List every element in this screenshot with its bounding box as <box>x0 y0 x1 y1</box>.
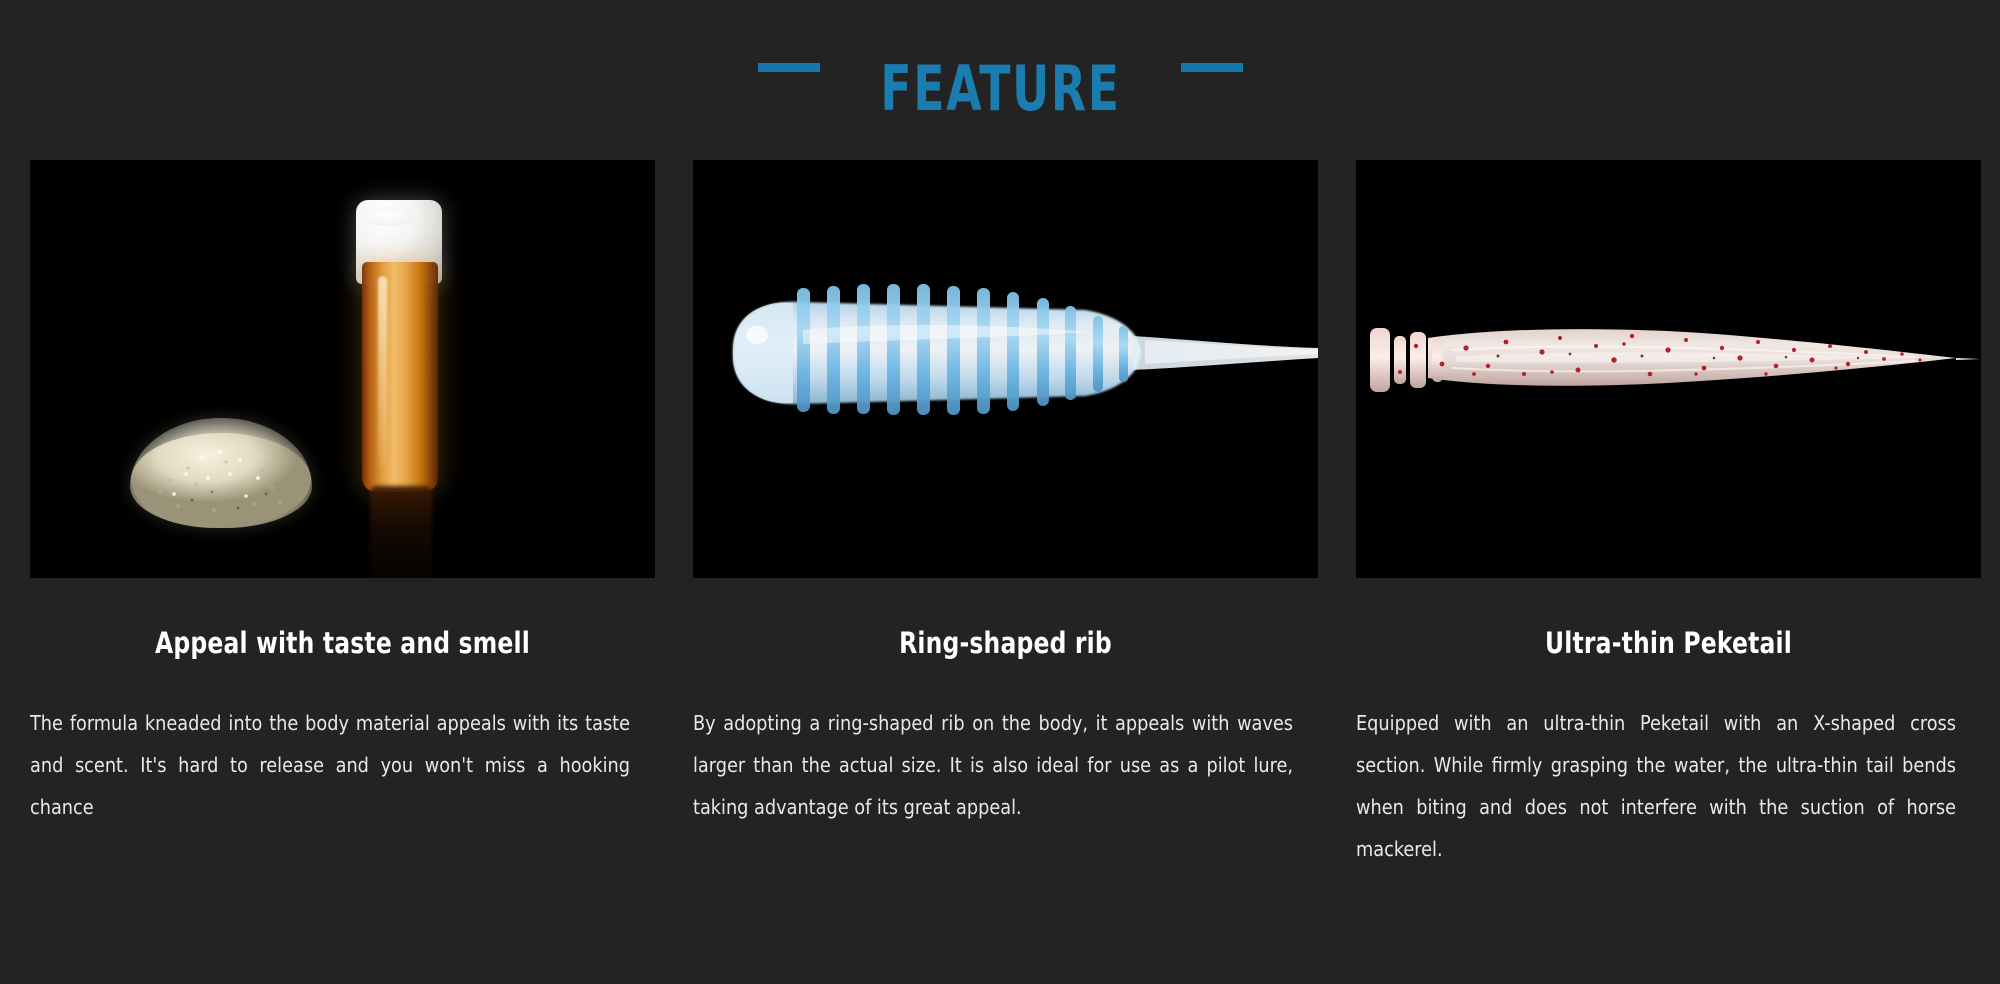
feature-columns: Appeal with taste and smell The formula … <box>0 160 2000 870</box>
attractant-bottle-icon <box>348 200 450 545</box>
peketail-icon <box>1356 160 1981 578</box>
powder-grain-texture-icon <box>130 418 312 528</box>
ring-shaped-rib-lure-photo <box>693 160 1318 578</box>
card-title-1: Appeal with taste and smell <box>61 626 624 660</box>
card-title-3: Ultra-thin Peketail <box>1387 626 1950 660</box>
feature-card-3: Ultra-thin Peketail Equipped with an ult… <box>1356 160 1981 870</box>
card-body-2: By adopting a ring-shaped rib on the bod… <box>693 702 1293 828</box>
ultra-thin-peketail-photo <box>1356 160 1981 578</box>
heading-dash-left-icon <box>758 63 820 72</box>
card-title-2: Ring-shaped rib <box>724 626 1287 660</box>
feature-card-2: Ring-shaped rib By adopting a ring-shape… <box>693 160 1318 828</box>
card-body-3: Equipped with an ultra-thin Peketail wit… <box>1356 702 1956 870</box>
page-title: FEATURE <box>880 58 1120 120</box>
bottle-body-icon <box>362 262 438 492</box>
bottle-and-powder-photo <box>30 160 655 578</box>
heading-dash-right-icon <box>1181 63 1243 72</box>
ring-rib-lure-icon <box>693 160 1318 578</box>
feature-card-1: Appeal with taste and smell The formula … <box>30 160 655 828</box>
section-heading: FEATURE <box>0 0 2000 160</box>
bottle-shadow <box>370 486 432 578</box>
card-body-1: The formula kneaded into the body materi… <box>30 702 630 828</box>
powder-pile-icon <box>130 418 312 528</box>
